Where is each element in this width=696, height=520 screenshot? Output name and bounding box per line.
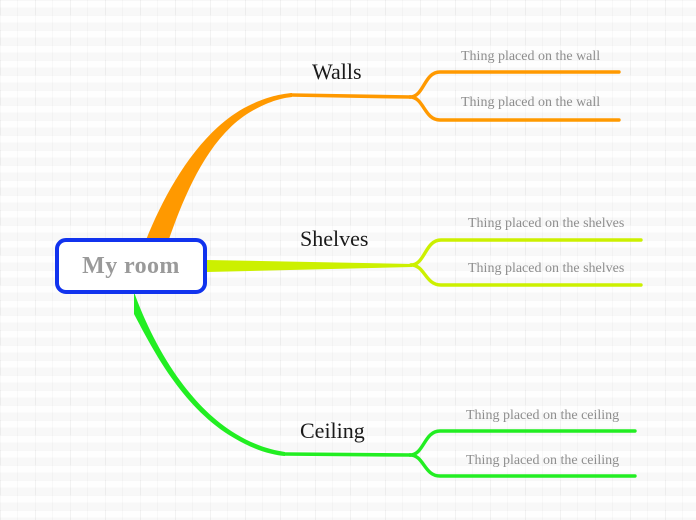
leaf-label-shelves-1[interactable]: Thing placed on the shelves	[468, 216, 624, 232]
branch-trunk-shelves	[207, 260, 412, 272]
branch-trunk-walls	[146, 93, 292, 242]
leaf-label-walls-1[interactable]: Thing placed on the wall	[461, 49, 600, 65]
branch-fork-walls-leaf-1	[410, 72, 619, 97]
leaf-label-ceiling-1[interactable]: Thing placed on the ceiling	[466, 408, 619, 424]
branch-spine-ceiling	[284, 454, 410, 455]
root-node[interactable]: My room	[55, 238, 207, 294]
branch-spine-walls	[291, 95, 410, 97]
root-node-label: My room	[82, 253, 180, 280]
leaf-label-shelves-2[interactable]: Thing placed on the shelves	[468, 261, 624, 277]
branch-trunk-ceiling	[134, 292, 285, 456]
topic-label-shelves[interactable]: Shelves	[300, 226, 368, 252]
topic-label-walls[interactable]: Walls	[312, 59, 362, 85]
topic-label-ceiling[interactable]: Ceiling	[300, 418, 365, 444]
mindmap-canvas: My room Walls Shelves Ceiling Thing plac…	[0, 0, 696, 520]
leaf-label-ceiling-2[interactable]: Thing placed on the ceiling	[466, 453, 619, 469]
leaf-label-walls-2[interactable]: Thing placed on the wall	[461, 95, 600, 111]
branch-fork-ceiling-leaf-1	[410, 431, 635, 455]
